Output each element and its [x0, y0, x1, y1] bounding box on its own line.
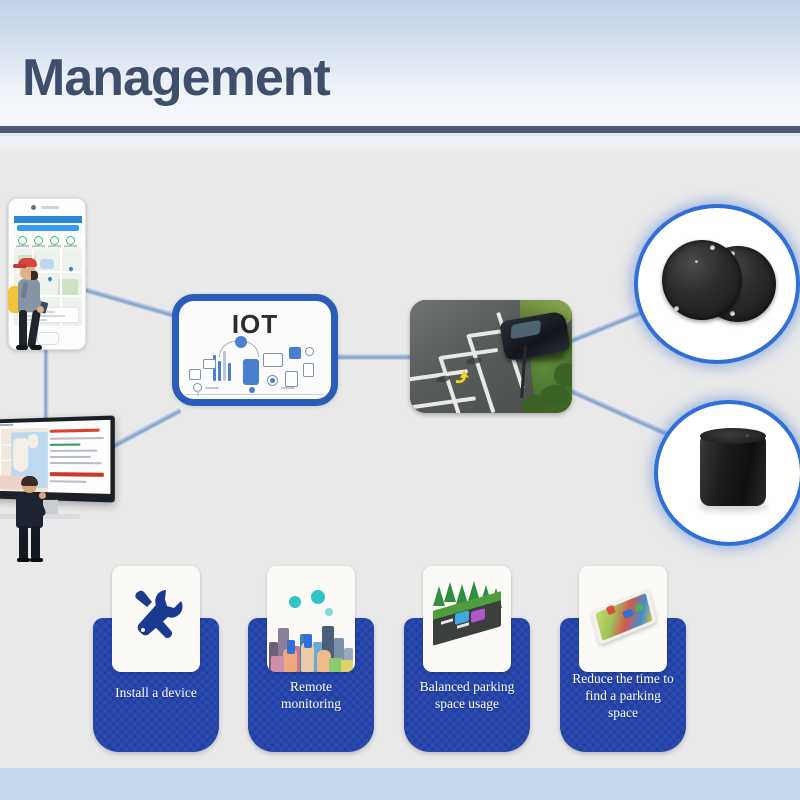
- benefit-card-balanced-usage[interactable]: Balanced parking space usage: [404, 566, 530, 752]
- cylinder-sensor-led: [746, 434, 749, 437]
- card-label: Balanced parking space usage: [408, 678, 526, 712]
- phone-map-isometric-icon: [591, 588, 657, 646]
- iot-infographic-illustration: [185, 341, 325, 397]
- app-statusbar: [14, 216, 82, 223]
- card-face: [579, 566, 667, 672]
- parking-lot-isometric-icon: [431, 586, 503, 648]
- slide-header: Management: [0, 0, 800, 126]
- iot-label: IOT: [179, 309, 331, 340]
- iot-hub-node[interactable]: IOT: [172, 294, 338, 406]
- tools-icon: [128, 584, 184, 650]
- slide-footer-band: [0, 768, 800, 800]
- benefit-cards-row: Install a device: [0, 566, 800, 756]
- cylinder-sensor-node[interactable]: [658, 404, 800, 542]
- smart-city-icon: [267, 594, 355, 672]
- header-divider-rule: [0, 126, 800, 133]
- flat-disc-sensors-node[interactable]: [638, 208, 796, 360]
- header-fade: [0, 136, 800, 158]
- benefit-card-install-device[interactable]: Install a device: [93, 566, 219, 752]
- card-label: Install a device: [97, 684, 215, 701]
- page-title: Management: [22, 48, 330, 108]
- benefit-card-remote-monitoring[interactable]: Remote monitoring: [248, 566, 374, 752]
- phone-camera-icon: [31, 205, 36, 210]
- card-label: Remote monitoring: [252, 678, 370, 712]
- connector-iot-to-parking: [334, 354, 416, 360]
- connector-phone-to-iot: [81, 286, 179, 319]
- app-search-bar: [17, 225, 79, 231]
- operator-monitor: [0, 418, 116, 563]
- card-face: [112, 566, 200, 672]
- phone-speaker: [41, 206, 59, 209]
- pedestrian-user-figure: [2, 258, 54, 356]
- card-label: Reduce the time to find a parking space: [564, 670, 682, 721]
- dashboard-info-panel: [50, 428, 108, 491]
- connector-monitor-to-iot: [107, 408, 182, 452]
- yellow-arrow-marking: [452, 368, 472, 388]
- connector-parking-to-disc-sensors: [565, 306, 653, 346]
- parking-lot-photo-node[interactable]: [410, 300, 572, 413]
- app-category-chips: [14, 234, 82, 248]
- disc-sensor-front: [662, 240, 742, 320]
- cylinder-sensor-body: [700, 434, 766, 506]
- card-face: [267, 566, 355, 672]
- connector-parking-to-cylinder-sensor: [565, 386, 673, 439]
- operator-figure: [8, 478, 52, 562]
- benefit-card-reduce-time[interactable]: Reduce the time to find a parking space: [560, 566, 686, 752]
- card-face: [423, 566, 511, 672]
- cylinder-sensor-top: [700, 428, 766, 444]
